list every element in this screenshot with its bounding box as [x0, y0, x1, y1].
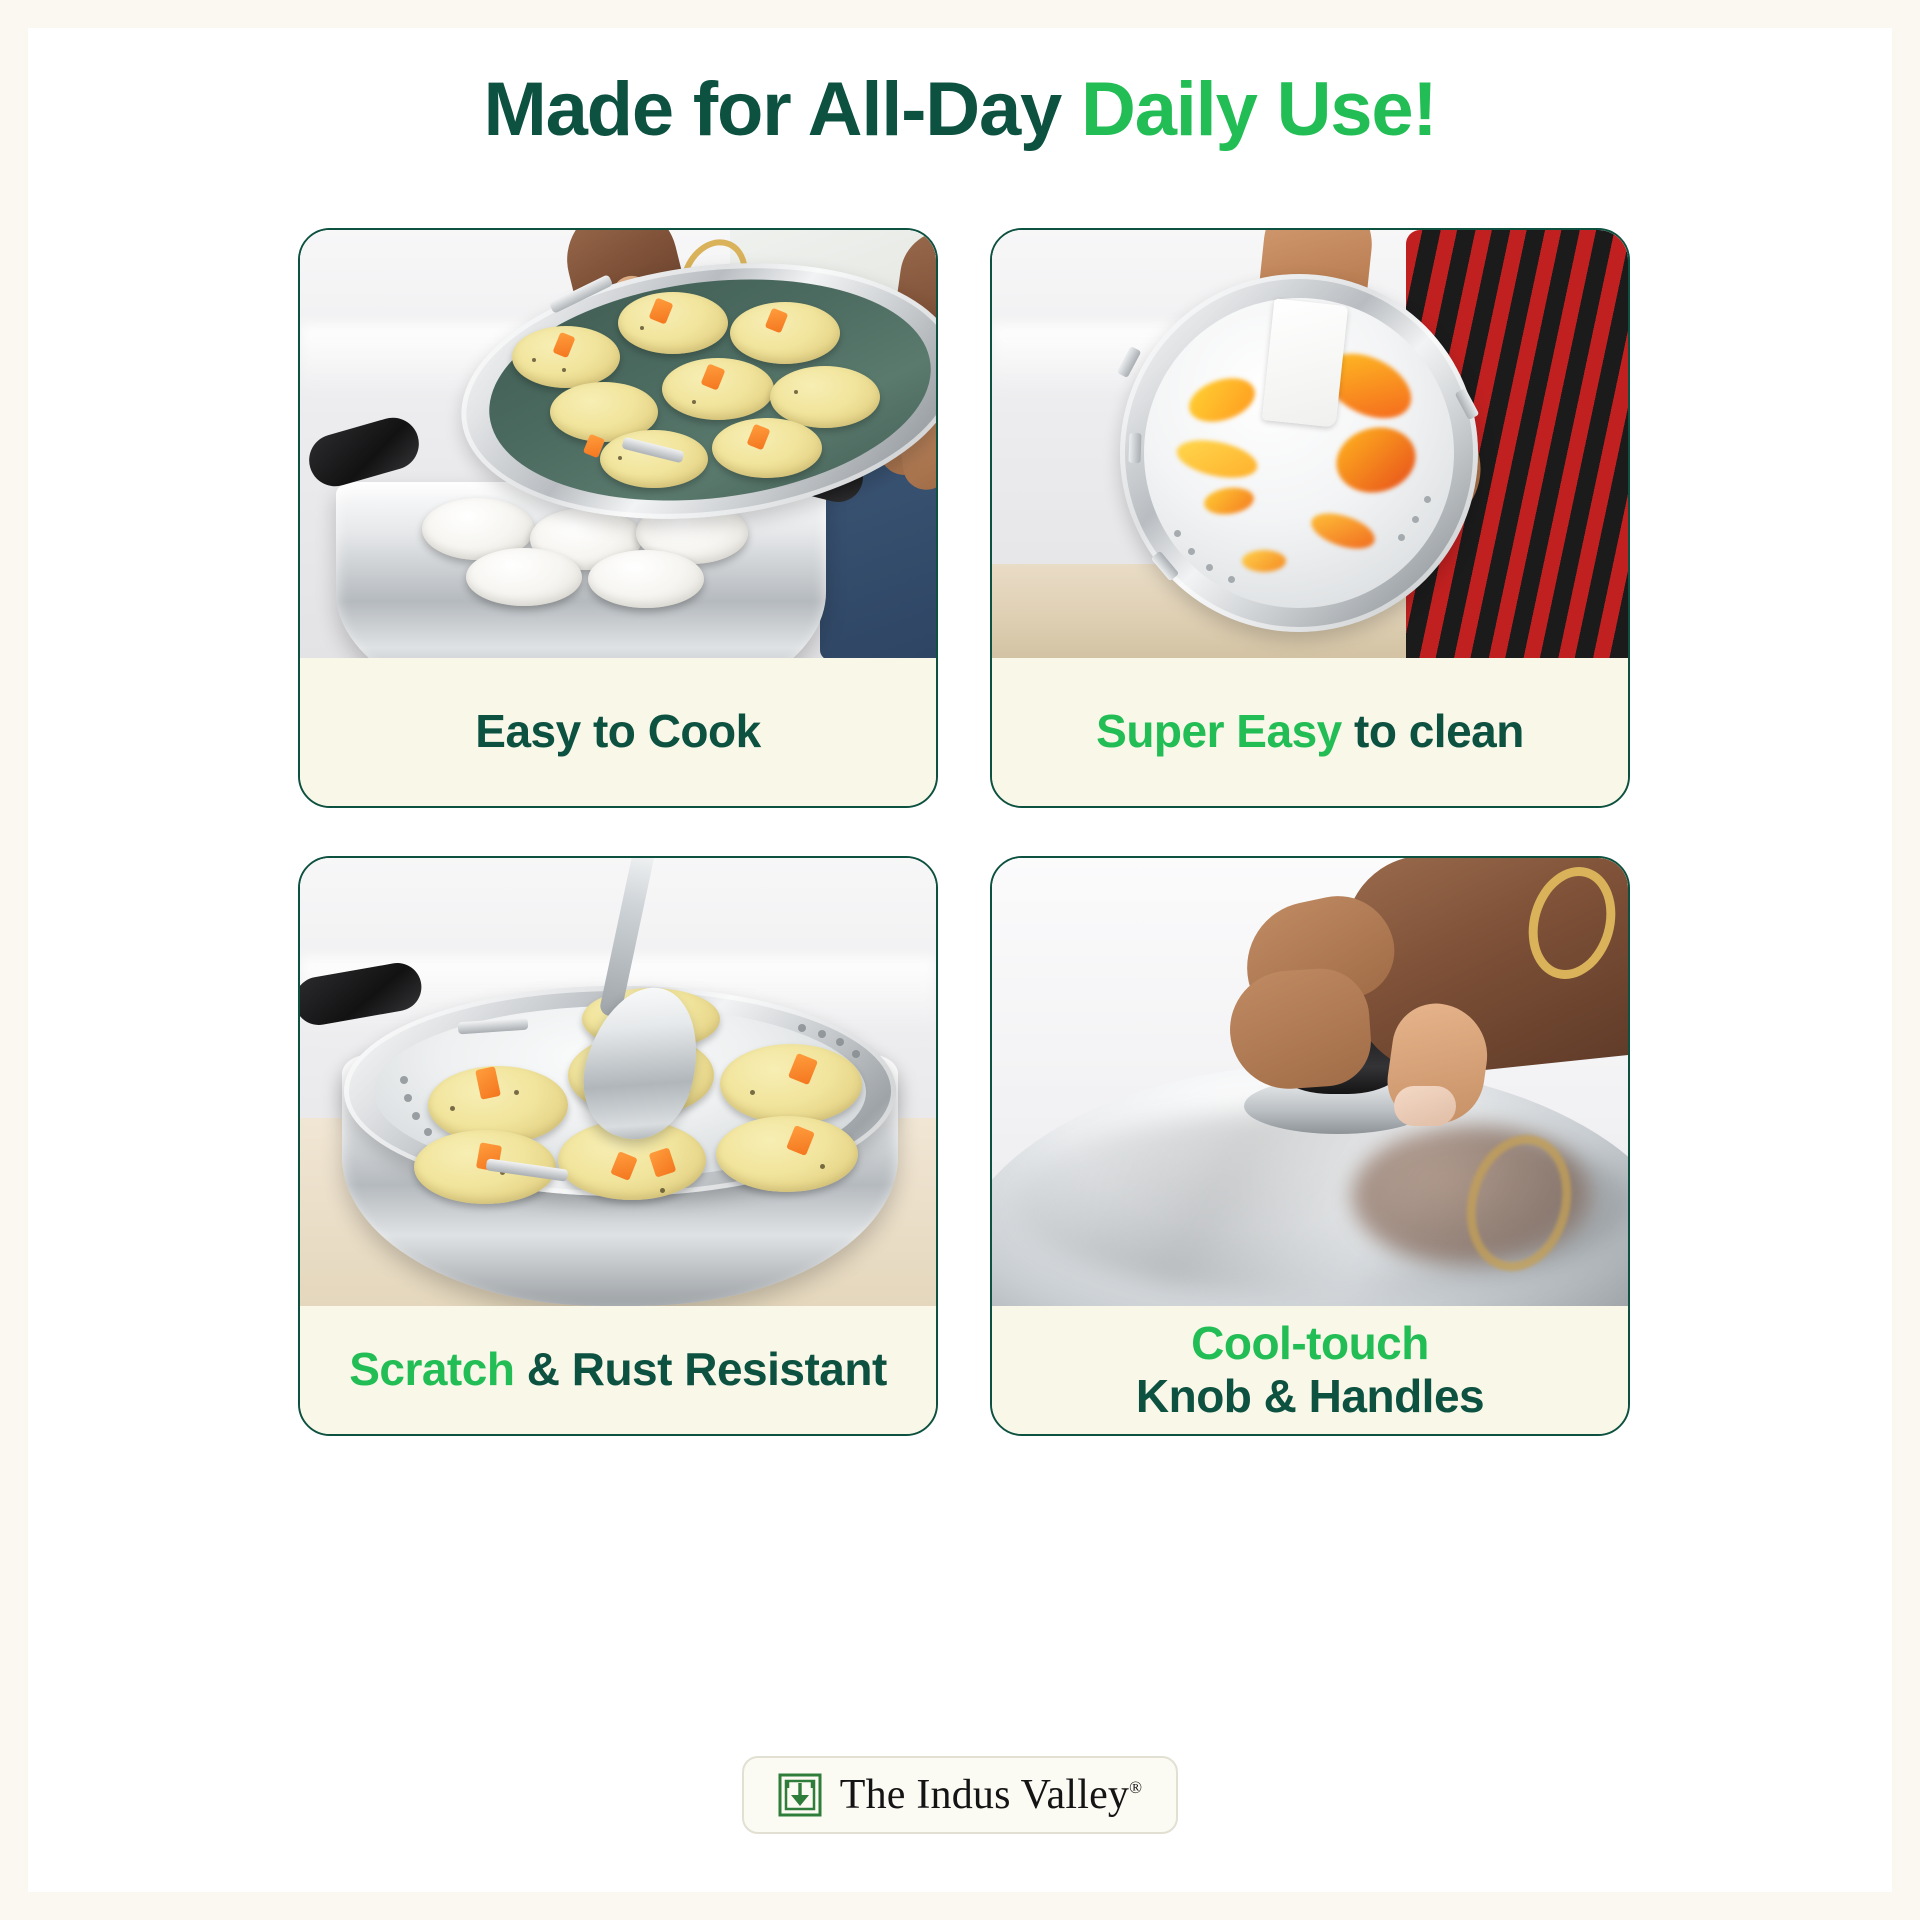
feature-card-grid: Easy to Cook [128, 228, 1800, 1558]
caption-cool-touch-knob-handles: Cool-touch Knob & Handles [992, 1306, 1628, 1434]
registered-mark: ® [1129, 1778, 1142, 1797]
square-down-arrow-icon [778, 1773, 822, 1817]
feature-card-scratch-rust-resistant[interactable]: Scratch & Rust Resistant [298, 856, 938, 1436]
brand-logo[interactable]: The Indus Valley® [742, 1756, 1179, 1834]
caption-bright-2: Super Easy [1096, 705, 1354, 757]
feature-card-easy-to-cook[interactable]: Easy to Cook [298, 228, 938, 808]
infographic-canvas: Made for All-Day Daily Use! [28, 28, 1892, 1892]
caption-super-easy-to-clean: Super Easy to clean [992, 658, 1628, 806]
brand-name-text: The Indus Valley [840, 1772, 1129, 1818]
feature-card-cool-touch-knob-handles[interactable]: Cool-touch Knob & Handles [990, 856, 1630, 1436]
photo-easy-to-cook [300, 230, 936, 658]
caption-dark-3: & Rust Resistant [527, 1343, 887, 1395]
brand-name: The Indus Valley® [840, 1771, 1143, 1819]
photo-scratch-rust-resistant [300, 858, 936, 1306]
footer: The Indus Valley® [28, 1756, 1892, 1834]
caption-easy-to-cook: Easy to Cook [300, 658, 936, 806]
caption-dark-2: to clean [1354, 705, 1524, 757]
feature-card-super-easy-to-clean[interactable]: Super Easy to clean [990, 228, 1630, 808]
page-title: Made for All-Day Daily Use! [28, 70, 1892, 150]
caption-dark-1: Easy to Cook [475, 705, 760, 757]
photo-cool-touch-knob-handles [992, 858, 1628, 1306]
caption-bright-4: Cool-touch [1191, 1317, 1429, 1369]
page-title-dark: Made for All-Day [483, 67, 1081, 152]
caption-bright-3: Scratch [349, 1343, 527, 1395]
caption-dark-4: Knob & Handles [1136, 1370, 1484, 1422]
caption-scratch-rust-resistant: Scratch & Rust Resistant [300, 1306, 936, 1434]
photo-super-easy-to-clean [992, 230, 1628, 658]
page-title-bright: Daily Use! [1081, 67, 1437, 152]
